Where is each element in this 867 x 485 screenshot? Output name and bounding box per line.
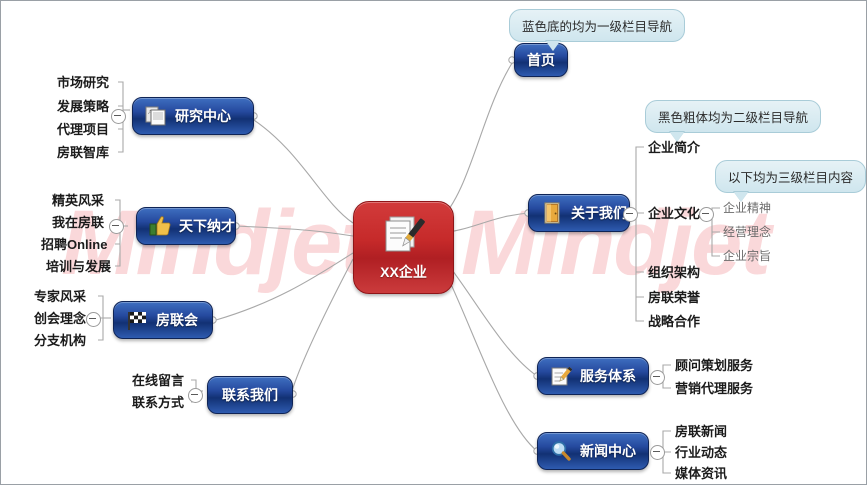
child-yingxiao-daili-fuwu[interactable]: 营销代理服务 <box>675 382 753 396</box>
callout-level1-nav: 蓝色底的均为一级栏目导航 <box>509 9 685 42</box>
child-qiye-wenhua[interactable]: 企业文化 <box>648 207 700 221</box>
node-label: 服务体系 <box>580 366 636 386</box>
node-lianxi-women[interactable]: 联系我们 <box>207 376 293 414</box>
grandchild-jingying-linian[interactable]: 经营理念 <box>723 226 771 239</box>
toggle-xinwen-zhongxin[interactable] <box>650 445 665 460</box>
child-zuzhi-jiagou[interactable]: 组织架构 <box>648 266 700 280</box>
child-zhanlue-hezuo[interactable]: 战略合作 <box>648 315 700 329</box>
child-qiye-jianjie[interactable]: 企业简介 <box>648 141 700 155</box>
child-peixun-yu-fazhan[interactable]: 培训与发展 <box>46 260 111 274</box>
node-fuwu-tixi[interactable]: 服务体系 <box>537 357 649 395</box>
node-label: 关于我们 <box>571 203 627 223</box>
node-xinwen-zhongxin[interactable]: 新闻中心 <box>537 432 649 470</box>
node-guanyu-women[interactable]: 关于我们 <box>528 194 630 232</box>
toggle-tianxia-nacai[interactable] <box>109 219 124 234</box>
node-label: 首页 <box>527 50 555 70</box>
magnifier-icon <box>550 440 572 462</box>
child-meiti-zixun[interactable]: 媒体资讯 <box>675 467 727 481</box>
door-icon <box>541 202 563 224</box>
node-yanjiu-zhongxin[interactable]: A 研究中心 <box>132 97 254 135</box>
document-pen-icon <box>382 212 426 256</box>
toggle-fanglianhui[interactable] <box>86 312 101 327</box>
child-jingying-fengcai[interactable]: 精英风采 <box>52 194 104 208</box>
toggle-qiye-wenhua[interactable] <box>699 207 714 222</box>
callout-tail <box>734 192 748 202</box>
node-label: 新闻中心 <box>580 441 636 461</box>
child-guwen-cehua-fuwu[interactable]: 顾问策划服务 <box>675 359 753 373</box>
callout-text: 蓝色底的均为一级栏目导航 <box>522 20 672 34</box>
callout-text: 以下均为三级栏目内容 <box>728 171 853 185</box>
child-fenzhi-jigou[interactable]: 分支机构 <box>34 334 86 348</box>
child-fanglian-xinwen[interactable]: 房联新闻 <box>675 425 727 439</box>
child-zhuanjia-fengcai[interactable]: 专家风采 <box>34 290 86 304</box>
callout-tail <box>670 132 684 142</box>
node-label: 联系我们 <box>222 385 278 405</box>
callout-text: 黑色粗体均为二级栏目导航 <box>658 111 808 125</box>
grandchild-qiye-jingshen[interactable]: 企业精神 <box>723 202 771 215</box>
callout-level3-content: 以下均为三级栏目内容 <box>715 160 866 193</box>
child-zaixian-liuyan[interactable]: 在线留言 <box>132 374 184 388</box>
thumbs-up-icon <box>149 215 171 237</box>
grandchild-qiye-zongzhi[interactable]: 企业宗旨 <box>723 250 771 263</box>
child-daili-xiangmu[interactable]: 代理项目 <box>57 123 109 137</box>
node-label: 天下纳才 <box>179 216 235 236</box>
callout-level2-nav: 黑色粗体均为二级栏目导航 <box>645 100 821 133</box>
toggle-fuwu-tixi[interactable] <box>650 370 665 385</box>
child-shichang-yanjiu[interactable]: 市场研究 <box>57 76 109 90</box>
checkered-flag-icon <box>126 309 148 331</box>
toggle-yanjiu-zhongxin[interactable] <box>111 109 126 124</box>
child-hangye-dongtai[interactable]: 行业动态 <box>675 446 727 460</box>
root-node[interactable]: XX企业 <box>353 201 454 294</box>
child-chuanghui-linian[interactable]: 创会理念 <box>34 312 86 326</box>
root-node-label: XX企业 <box>380 262 427 282</box>
toggle-guanyu-women[interactable] <box>623 207 638 222</box>
notepad-pencil-icon <box>550 365 572 387</box>
child-fazhan-celue[interactable]: 发展策略 <box>57 100 109 114</box>
node-label: 研究中心 <box>175 106 231 126</box>
node-fanglianhui[interactable]: 房联会 <box>113 301 213 339</box>
child-lianxi-fangshi[interactable]: 联系方式 <box>132 396 184 410</box>
toggle-lianxi-women[interactable] <box>188 388 203 403</box>
child-zhaopin-online[interactable]: 招聘Online <box>41 238 107 252</box>
callout-tail <box>546 41 560 51</box>
node-label: 房联会 <box>156 310 198 330</box>
child-wozai-fanglian[interactable]: 我在房联 <box>52 216 104 230</box>
node-tianxia-nacai[interactable]: 天下纳才 <box>136 207 236 245</box>
nodes-layer: XX企业 A 研究中心 市场研究 发展策略 代理项目 房联智库 天下纳才 精英风 <box>1 1 867 485</box>
mindmap-canvas[interactable]: Mindjet Mindjet <box>0 0 867 485</box>
child-fanglian-rongyu[interactable]: 房联荣誉 <box>648 291 700 305</box>
child-fanglian-zhiku[interactable]: 房联智库 <box>57 146 109 160</box>
documents-icon: A <box>145 105 167 127</box>
